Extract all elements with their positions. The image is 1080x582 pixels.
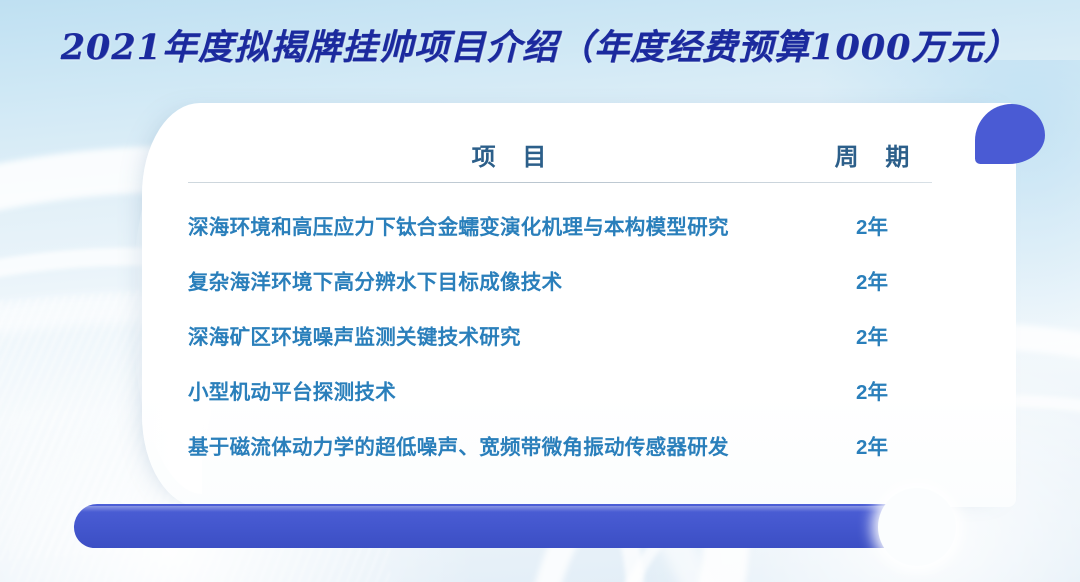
cell-project-name: 深海矿区环境噪声监测关键技术研究 — [188, 320, 812, 350]
table-row: 深海环境和高压应力下钛合金蠕变演化机理与本构模型研究 2年 — [188, 197, 932, 252]
cell-project-name: 深海环境和高压应力下钛合金蠕变演化机理与本构模型研究 — [188, 210, 812, 240]
table-row: 小型机动平台探测技术 2年 — [188, 362, 932, 417]
table-row: 复杂海洋环境下高分辨水下目标成像技术 2年 — [188, 252, 932, 307]
slide-canvas: 2021年度拟揭牌挂帅项目介绍（年度经费预算1000万元） 项 目 周 期 深海… — [0, 0, 1080, 582]
column-header-period: 周 期 — [812, 137, 932, 172]
bottom-ribbon-bar — [73, 504, 913, 548]
table-header-row: 项 目 周 期 — [188, 122, 932, 172]
table-row: 深海矿区环境噪声监测关键技术研究 2年 — [188, 307, 932, 362]
cell-project-period: 2年 — [812, 265, 932, 295]
table-row: 基于磁流体动力学的超低噪声、宽频带微角振动传感器研发 2年 — [188, 417, 932, 472]
cell-project-period: 2年 — [812, 320, 932, 350]
slide-title: 2021年度拟揭牌挂帅项目介绍（年度经费预算1000万元） — [61, 19, 1020, 70]
cell-project-period: 2年 — [812, 210, 932, 240]
table-body: 深海环境和高压应力下钛合金蠕变演化机理与本构模型研究 2年 复杂海洋环境下高分辨… — [188, 197, 932, 472]
table-header-divider — [188, 182, 932, 183]
blue-petal-icon — [975, 104, 1045, 164]
cell-project-period: 2年 — [812, 375, 932, 405]
slide-title-band: 2021年度拟揭牌挂帅项目介绍（年度经费预算1000万元） — [0, 0, 1080, 88]
cell-project-name: 基于磁流体动力学的超低噪声、宽频带微角振动传感器研发 — [188, 430, 812, 460]
cell-project-name: 复杂海洋环境下高分辨水下目标成像技术 — [188, 265, 812, 295]
column-header-item: 项 目 — [188, 137, 812, 172]
cell-project-name: 小型机动平台探测技术 — [188, 375, 812, 405]
cell-project-period: 2年 — [812, 430, 932, 460]
projects-table: 项 目 周 期 深海环境和高压应力下钛合金蠕变演化机理与本构模型研究 2年 复杂… — [188, 122, 932, 472]
bottom-ribbon-notch — [878, 488, 956, 566]
